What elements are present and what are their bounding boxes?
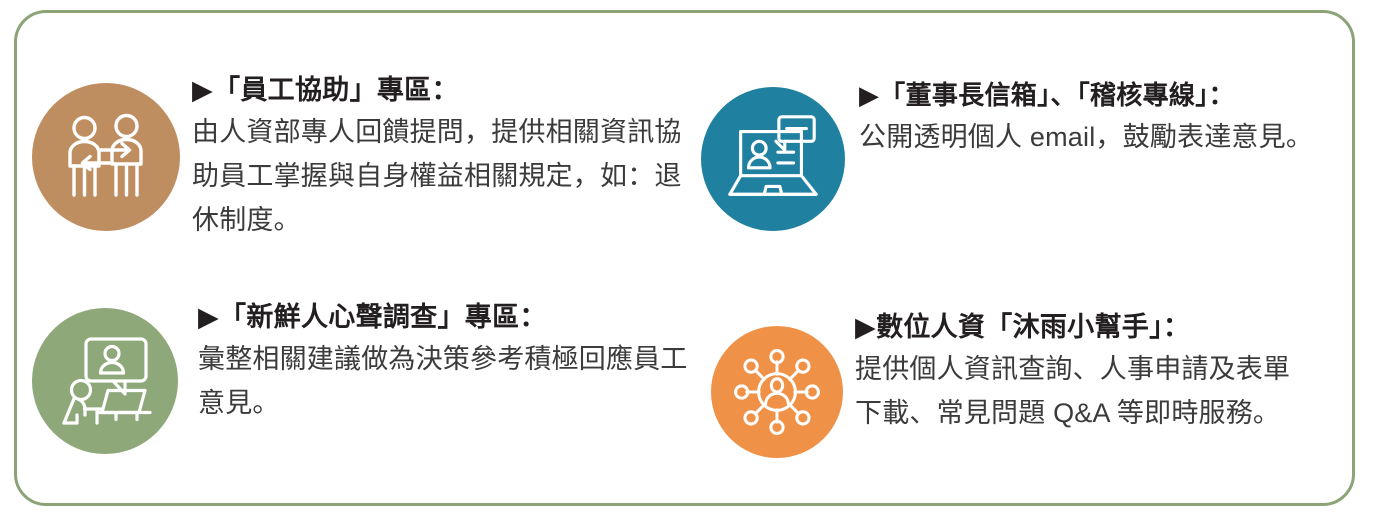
card-body: 提供個人資訊查詢、人事申請及表單下載、常見問題 Q&A 等即時服務。 xyxy=(855,348,1317,435)
card-newcomer-voice-survey: ▶「新鮮人心聲調查」專區： 彙整相關建議做為決策參考積極回應員工意見。 xyxy=(32,298,692,454)
card-chairman-mailbox-audit-hotline: ▶「董事長信箱」、「稽核專線」： 公開透明個人 email，鼓勵表達意見。 xyxy=(701,77,1351,231)
info-panel: ▶「員工協助」專區： 由人資部專人回饋提問，提供相關資訊協助員工掌握與自身權益相… xyxy=(14,10,1355,506)
card-heading: ▶「董事長信箱」、「稽核專線」： xyxy=(859,77,1351,114)
bullet-triangle-icon: ▶ xyxy=(198,302,219,332)
card-grid: ▶「員工協助」專區： 由人資部專人回饋提問，提供相關資訊協助員工掌握與自身權益相… xyxy=(17,13,1352,503)
two-people-exchange-icon xyxy=(32,83,180,231)
person-at-laptop-speech-bubble-icon xyxy=(32,308,178,454)
network-hub-person-icon xyxy=(711,326,843,458)
bullet-triangle-icon: ▶ xyxy=(192,75,213,105)
heading-text: 「員工協助」專區： xyxy=(213,75,459,105)
card-body: 公開透明個人 email，鼓勵表達意見。 xyxy=(859,116,1324,160)
card-text: ▶「新鮮人心聲調查」專區： 彙整相關建議做為決策參考積極回應員工意見。 xyxy=(198,298,692,426)
card-heading: ▶數位人資「沐雨小幫手」： xyxy=(855,308,1351,346)
card-text: ▶「員工協助」專區： 由人資部專人回饋提問，提供相關資訊協助員工掌握與自身權益相… xyxy=(192,71,692,243)
heading-text: 「董事長信箱」、「稽核專線」： xyxy=(879,80,1235,110)
heading-text: 「新鮮人心聲調查」專區： xyxy=(219,302,547,332)
card-text: ▶「董事長信箱」、「稽核專線」： 公開透明個人 email，鼓勵表達意見。 xyxy=(859,77,1351,160)
card-heading: ▶「新鮮人心聲調查」專區： xyxy=(198,298,692,336)
card-employee-assistance: ▶「員工協助」專區： 由人資部專人回饋提問，提供相關資訊協助員工掌握與自身權益相… xyxy=(32,71,692,243)
card-digital-hr-assistant: ▶數位人資「沐雨小幫手」： 提供個人資訊查詢、人事申請及表單下載、常見問題 Q&… xyxy=(701,308,1351,458)
card-body: 彙整相關建議做為決策參考積極回應員工意見。 xyxy=(198,338,688,425)
laptop-profile-message-icon xyxy=(701,87,845,231)
heading-text: 數位人資「沐雨小幫手」： xyxy=(876,312,1190,342)
bullet-triangle-icon: ▶ xyxy=(859,80,879,110)
bullet-triangle-icon: ▶ xyxy=(855,312,876,342)
card-body: 由人資部專人回饋提問，提供相關資訊協助員工掌握與自身權益相關規定，如：退休制度。 xyxy=(192,111,692,242)
card-heading: ▶「員工協助」專區： xyxy=(192,71,692,109)
card-text: ▶數位人資「沐雨小幫手」： 提供個人資訊查詢、人事申請及表單下載、常見問題 Q&… xyxy=(855,308,1351,436)
